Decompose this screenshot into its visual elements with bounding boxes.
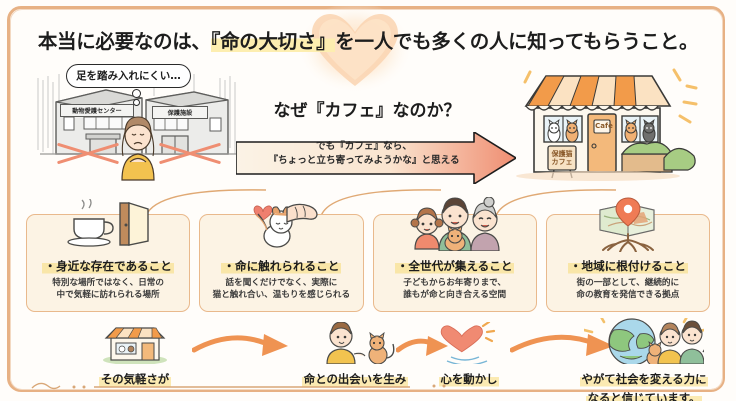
- benefit-card: ・全世代が集えること 子どもからお年寄りまで、 誰もが命と向き合える空間: [373, 214, 537, 312]
- benefit-card: ・身近な存在であること 特別な場所ではなく、日常の 中で気軽に訪れられる場所: [26, 214, 190, 312]
- child-and-cat-icon: [311, 322, 399, 364]
- flow-step: その気軽さが: [80, 322, 190, 387]
- building-label-shelter: 保護施設: [152, 106, 208, 119]
- benefit-card-desc-line1: 話を聞くだけでなく、実際に: [204, 277, 358, 289]
- benefit-card-desc: 特別な場所ではなく、日常の 中で気軽に訪れられる場所: [27, 277, 189, 302]
- arrow-message-line1: でも『カフェ』なら、: [240, 140, 488, 154]
- hand-petting-cat-icon: [200, 195, 362, 253]
- benefit-card-desc: 話を聞くだけでなく、実際に 猫と触れ合い、温もりを感じられる: [200, 277, 362, 302]
- page-title: 本当に必要なのは、『命の大切さ』を一人でも多くの人に知ってもらうこと。: [0, 25, 736, 54]
- benefit-card-desc-line1: 街の一部として、継続的に: [551, 277, 705, 289]
- decorative-divider: [30, 380, 410, 390]
- cafe-board-line2: カフェ: [549, 158, 575, 166]
- arrow-message-line2: 『ちょっと立ち寄ってみようかな』と思える: [240, 154, 488, 168]
- headline-pre: 本当に必要なのは、: [38, 30, 211, 53]
- infographic-poster: 本当に必要なのは、『命の大切さ』を一人でも多くの人に知ってもらうこと。: [0, 0, 736, 401]
- cafe-door-sign: Cafe: [595, 122, 613, 130]
- flow-step-label-secondary: なると信じています。: [586, 391, 703, 401]
- benefit-card-desc: 街の一部として、継続的に 命の教育を発信できる拠点: [547, 277, 709, 302]
- benefit-card-list: ・身近な存在であること 特別な場所ではなく、日常の 中で気軽に訪れられる場所: [26, 214, 710, 312]
- decorative-divider-right: [430, 380, 720, 390]
- globe-with-people-icon: [584, 318, 704, 364]
- benefit-card-title: ・地域に根付けること: [568, 258, 688, 274]
- benefit-card-desc-line2: 誰もが命と向き合える空間: [378, 289, 532, 301]
- headline-post: を一人でも多くの人に知ってもらうこと。: [335, 30, 698, 53]
- facility-scene: 動物愛護センター 保護施設 足を踏み入れにくい…: [34, 62, 242, 184]
- benefit-card-title: ・命に触れられること: [221, 258, 341, 274]
- cafe-sandwich-board: 保護猫 カフェ: [549, 150, 575, 166]
- center-question: なぜ『カフェ』なのか？: [252, 96, 482, 121]
- small-cafe-shop-icon: [98, 322, 172, 364]
- benefit-card-desc-line2: 中で気軽に訪れられる場所: [31, 289, 185, 301]
- arrow-message: でも『カフェ』なら、 『ちょっと立ち寄ってみようかな』と思える: [240, 140, 488, 168]
- three-generations-with-cat-icon: [374, 195, 536, 253]
- thought-bubble: 足を踏み入れにくい…: [66, 64, 191, 88]
- benefit-card-desc-line2: 猫と触れ合い、温もりを感じられる: [204, 289, 358, 301]
- heart-ripple-icon: [439, 322, 499, 364]
- cafe-board-line1: 保護猫: [549, 150, 575, 158]
- coffee-cup-and-open-door-icon: [27, 195, 189, 253]
- flow-arrow-icon: [192, 328, 292, 360]
- map-pin-with-roots-icon: [547, 195, 709, 253]
- benefit-card-desc-line1: 特別な場所ではなく、日常の: [31, 277, 185, 289]
- flow-step: 心を動かし: [414, 322, 524, 387]
- benefit-card-desc: 子どもからお年寄りまで、 誰もが命と向き合える空間: [374, 277, 536, 302]
- benefit-card-title: ・身近な存在であること: [42, 258, 173, 274]
- cafe-scene: Cafe 保護猫 カフェ: [512, 58, 704, 186]
- thought-bubble-dot-large: [132, 89, 141, 98]
- benefit-card-title: ・全世代が集えること: [395, 258, 515, 274]
- benefit-card: ・地域に根付けること 街の一部として、継続的に 命の教育を発信できる拠点: [546, 214, 710, 312]
- benefit-card: ・命に触れられること 話を聞くだけでなく、実際に 猫と触れ合い、温もりを感じられ…: [199, 214, 363, 312]
- thought-bubble-dot-small: [133, 99, 140, 106]
- benefit-card-desc-line1: 子どもからお年寄りまで、: [378, 277, 532, 289]
- building-label-animal-center: 動物愛護センター: [60, 104, 134, 117]
- benefit-card-desc-line2: 命の教育を発信できる拠点: [551, 289, 705, 301]
- headline-highlight: 『命の大切さ』: [211, 30, 336, 53]
